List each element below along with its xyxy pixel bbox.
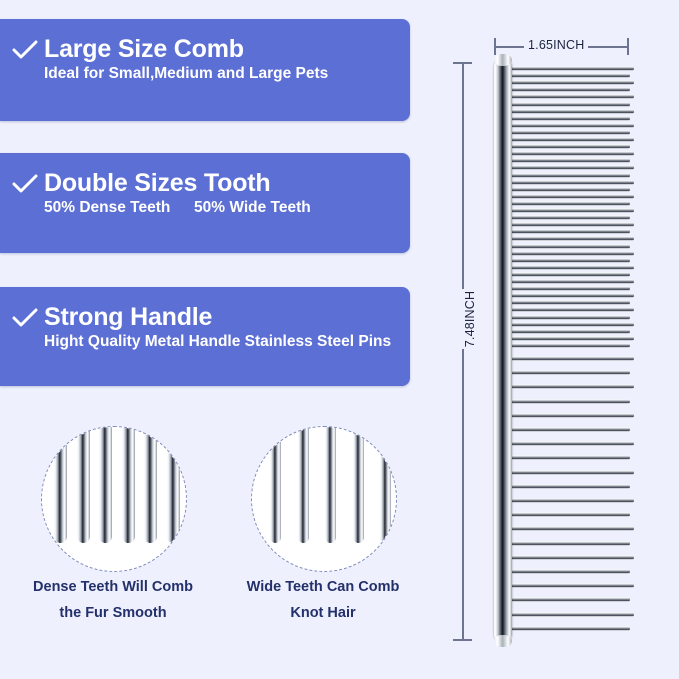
comb-tooth-dense bbox=[505, 336, 634, 341]
comb-tooth-dense bbox=[505, 286, 630, 291]
comb-tooth-wide bbox=[505, 597, 630, 602]
comb-tooth-dense bbox=[505, 194, 634, 199]
feature-banner-double-sizes-tooth: Double Sizes Tooth 50% Dense Teeth 50% W… bbox=[0, 153, 410, 253]
comb-tooth-dense bbox=[505, 73, 630, 78]
caption-line-2: Knot Hair bbox=[218, 600, 428, 626]
comb-tooth-dense bbox=[505, 151, 634, 156]
comb-tooth-dense bbox=[505, 215, 630, 220]
wide-teeth-closeup bbox=[251, 426, 397, 572]
closeup-pin-wide bbox=[270, 426, 281, 543]
check-icon bbox=[10, 303, 40, 333]
closeup-pin-wide bbox=[380, 426, 391, 543]
comb-tooth-wide bbox=[505, 370, 630, 375]
height-dimension-label: 7.48INCH bbox=[461, 289, 479, 349]
pet-comb-product-image bbox=[494, 58, 634, 643]
banner-title-row: Double Sizes Tooth bbox=[10, 169, 410, 199]
comb-tooth-dense bbox=[505, 300, 630, 305]
closeup-pin-wide bbox=[298, 426, 309, 543]
comb-tooth-wide bbox=[505, 455, 630, 460]
comb-tooth-wide bbox=[505, 626, 630, 631]
comb-tooth-dense bbox=[505, 315, 630, 320]
comb-tooth-dense bbox=[505, 272, 630, 277]
comb-handle-spine bbox=[494, 58, 512, 643]
closeup-pin-dense bbox=[144, 426, 157, 543]
closeup-pin-dense bbox=[77, 426, 90, 543]
comb-tooth-dense bbox=[505, 123, 634, 128]
caption-line-1: Wide Teeth Can Comb bbox=[218, 574, 428, 600]
height-dimension-line bbox=[462, 62, 464, 640]
caption-line-2: the Fur Smooth bbox=[8, 600, 218, 626]
dense-teeth-caption: Dense Teeth Will Comb the Fur Smooth bbox=[8, 574, 218, 626]
comb-tooth-dense bbox=[505, 165, 634, 170]
comb-tooth-wide bbox=[505, 526, 634, 531]
comb-tooth-wide bbox=[505, 555, 634, 560]
closeup-pin-wide bbox=[353, 426, 364, 543]
feature-banner-large-size-comb: Large Size Comb Ideal for Small,Medium a… bbox=[0, 19, 410, 121]
comb-tooth-dense bbox=[505, 130, 630, 135]
comb-tooth-wide bbox=[505, 413, 634, 418]
comb-tooth-dense bbox=[505, 229, 630, 234]
comb-tooth-dense bbox=[505, 102, 630, 107]
comb-tooth-dense bbox=[505, 158, 630, 163]
comb-tooth-dense bbox=[505, 329, 630, 334]
feature-title: Double Sizes Tooth bbox=[44, 170, 271, 198]
feature-banner-strong-handle: Strong Handle Hight Quality Metal Handle… bbox=[0, 287, 410, 386]
feature-title: Large Size Comb bbox=[44, 36, 244, 64]
banner-title-row: Strong Handle bbox=[10, 303, 410, 333]
comb-handle-top-cap bbox=[494, 54, 512, 66]
check-icon bbox=[10, 35, 40, 65]
closeup-pin-dense bbox=[167, 426, 180, 543]
dense-pin-group bbox=[42, 427, 186, 571]
comb-tooth-dense bbox=[505, 236, 634, 241]
comb-tooth-dense bbox=[505, 293, 634, 298]
caption-line-1: Dense Teeth Will Comb bbox=[8, 574, 218, 600]
comb-tooth-dense bbox=[505, 87, 630, 92]
comb-tooth-wide bbox=[505, 583, 634, 588]
comb-tooth-dense bbox=[505, 137, 634, 142]
width-dimension-cap-right bbox=[627, 38, 629, 55]
comb-tooth-dense bbox=[505, 173, 630, 178]
comb-tooth-dense bbox=[505, 116, 630, 121]
closeup-pin-dense bbox=[54, 426, 67, 543]
comb-tooth-wide bbox=[505, 427, 630, 432]
comb-tooth-dense bbox=[505, 258, 630, 263]
check-icon bbox=[10, 169, 40, 199]
feature-subtitle-row: 50% Dense Teeth 50% Wide Teeth bbox=[44, 199, 410, 217]
closeup-pin-wide bbox=[325, 426, 336, 543]
comb-tooth-dense bbox=[505, 222, 634, 227]
closeup-pin-dense bbox=[99, 426, 112, 543]
comb-tooth-dense bbox=[505, 201, 630, 206]
comb-tooth-dense bbox=[505, 307, 634, 312]
feature-subtitle: Hight Quality Metal Handle Stainless Ste… bbox=[44, 333, 410, 351]
comb-tooth-dense bbox=[505, 144, 630, 149]
feature-subtitle-wide: 50% Wide Teeth bbox=[194, 199, 311, 217]
comb-tooth-dense bbox=[505, 80, 634, 85]
infographic-canvas: Large Size Comb Ideal for Small,Medium a… bbox=[0, 0, 679, 679]
closeup-pin-dense bbox=[122, 426, 135, 543]
comb-tooth-wide bbox=[505, 356, 634, 361]
dense-teeth-closeup bbox=[41, 426, 187, 572]
comb-tooth-wide bbox=[505, 512, 630, 517]
comb-tooth-dense bbox=[505, 180, 634, 185]
comb-tooth-wide bbox=[505, 612, 634, 617]
comb-handle-bottom-cap bbox=[494, 635, 512, 647]
comb-tooth-dense bbox=[505, 208, 634, 213]
height-dimension-cap-top bbox=[453, 62, 472, 64]
comb-tooth-wide bbox=[505, 399, 630, 404]
wide-pin-group bbox=[252, 427, 396, 571]
comb-tooth-dense bbox=[505, 251, 634, 256]
comb-tooth-wide bbox=[505, 384, 634, 389]
wide-teeth-caption: Wide Teeth Can Comb Knot Hair bbox=[218, 574, 428, 626]
comb-tooth-dense bbox=[505, 109, 634, 114]
comb-tooth-wide bbox=[505, 484, 630, 489]
comb-tooth-dense bbox=[505, 187, 630, 192]
width-dimension-label: 1.65INCH bbox=[524, 37, 588, 54]
comb-tooth-dense bbox=[505, 322, 634, 327]
comb-tooth-dense bbox=[505, 279, 634, 284]
comb-tooth-wide bbox=[505, 541, 630, 546]
feature-subtitle: Ideal for Small,Medium and Large Pets bbox=[44, 65, 410, 83]
feature-subtitle-dense: 50% Dense Teeth bbox=[44, 199, 194, 217]
feature-title: Strong Handle bbox=[44, 304, 212, 332]
comb-tooth-wide bbox=[505, 498, 634, 503]
width-dimension-cap-left bbox=[494, 38, 496, 55]
comb-tooth-wide bbox=[505, 569, 630, 574]
height-dimension-cap-bottom bbox=[453, 639, 472, 641]
comb-tooth-dense bbox=[505, 343, 630, 348]
banner-title-row: Large Size Comb bbox=[10, 35, 410, 65]
comb-tooth-dense bbox=[505, 66, 634, 71]
comb-tooth-wide bbox=[505, 470, 634, 475]
comb-tooth-dense bbox=[505, 265, 634, 270]
comb-tooth-dense bbox=[505, 244, 630, 249]
comb-tooth-dense bbox=[505, 94, 634, 99]
comb-tooth-wide bbox=[505, 441, 634, 446]
